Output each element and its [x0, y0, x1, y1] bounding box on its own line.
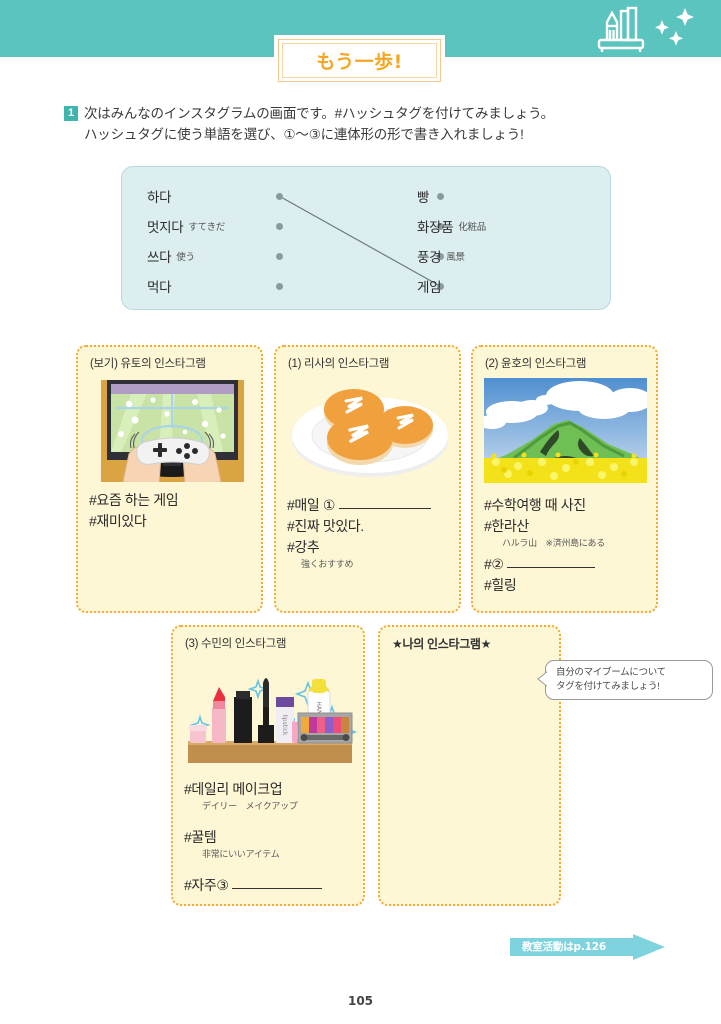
match-word-jp: 化粧品 [458, 219, 486, 233]
hint-speech-bubble: 自分のマイブームについて タグを付けてみましょう! [545, 660, 713, 700]
card-tags: #요즘 하는 게임 #재미있다 [89, 490, 178, 532]
card-image-cosmetics: lipstick HANDCREAM [182, 663, 358, 775]
bubble-line-2: タグを付けてみましょう! [556, 680, 712, 694]
card-tag-jp: ハルラ山 ※済州島にある [502, 537, 605, 550]
card-tag: #강추 [287, 537, 431, 558]
match-word-ko: 풍경 [417, 246, 441, 266]
answer-blank-1[interactable] [339, 508, 431, 509]
match-right-item[interactable]: 게임 [417, 271, 597, 301]
card-tags: #데일리 메이크업 デイリー メイクアップ #꿀템 非常にいいアイテム #자주③ [184, 779, 322, 896]
card-tags: #매일 ① #진짜 맛있다. #강추 強くおすすめ [287, 495, 431, 571]
card-tag-text: #재미있다 [89, 513, 146, 529]
card-tag-text: #힐링 [484, 577, 516, 593]
bubble-line-1: 自分のマイブームについて [556, 666, 712, 680]
textbook-page: もう一歩! 1 次はみんなのインスタグラムの画面です。#ハッシュタグを付けてみま… [0, 0, 721, 1024]
instagram-card-my[interactable]: ★나의 인스타그램★ [378, 625, 561, 906]
word-matching-box: 하다 멋지다 すてきだ 쓰다 使う 먹다 빵 [121, 166, 611, 310]
question-number-badge: 1 [64, 106, 78, 121]
match-left-item[interactable]: 쓰다 使う [147, 241, 337, 271]
card-tag: #진짜 맛있다. [287, 516, 431, 537]
match-left-item[interactable]: 먹다 [147, 271, 337, 301]
match-word-jp: すてきだ [188, 219, 225, 233]
card-tag-text: #진짜 맛있다. [287, 518, 364, 534]
card-tag-text: #수학여행 때 사진 [484, 497, 586, 513]
card-title: ★나의 인스타그램★ [392, 635, 491, 652]
match-left-column: 하다 멋지다 すてきだ 쓰다 使う 먹다 [147, 181, 337, 301]
instagram-card-3: (3) 수민의 인스타그램 [171, 625, 365, 906]
match-word-ko: 화장품 [417, 216, 453, 236]
reference-text: 教室活動はp.126 [522, 939, 606, 954]
card-tag: #② [484, 554, 605, 575]
match-dot-left-0[interactable] [276, 193, 283, 200]
instruction-line-1: 次はみんなのインスタグラムの画面です。#ハッシュタグを付けてみましょう。 [84, 103, 554, 124]
match-word-ko: 빵 [417, 186, 429, 206]
card-tag-text: #자주③ [184, 877, 229, 893]
card-image-bread [288, 377, 451, 487]
card-title: (2) 윤호의 인스타그램 [485, 355, 586, 371]
card-tag: #매일 ① [287, 495, 431, 516]
match-word-ko: 쓰다 [147, 246, 171, 266]
instagram-card-2: (2) 윤호의 인스타그램 [471, 345, 658, 613]
card-tag: #데일리 메이크업 [184, 779, 322, 800]
answer-blank-2[interactable] [507, 567, 595, 568]
card-title: (보기) 유토의 인스타그램 [90, 355, 206, 371]
match-word-jp: 風景 [446, 249, 464, 263]
match-left-item[interactable]: 하다 [147, 181, 337, 211]
match-dot-left-1[interactable] [276, 223, 283, 230]
match-dot-left-3[interactable] [276, 283, 283, 290]
card-tag-text: #한라산 [484, 518, 529, 534]
card-tag-text: #요즘 하는 게임 [89, 492, 178, 508]
match-left-item[interactable]: 멋지다 すてきだ [147, 211, 337, 241]
card-tag-jp: 強くおすすめ [301, 558, 431, 571]
match-word-ko: 먹다 [147, 276, 171, 296]
page-title: もう一歩! [316, 47, 403, 74]
card-tags: #수학여행 때 사진 #한라산 ハルラ山 ※済州島にある #② #힐링 [484, 495, 605, 596]
card-tag: #수학여행 때 사진 [484, 495, 605, 516]
card-image-mountain [484, 378, 647, 483]
card-tag: #자주③ [184, 875, 322, 896]
match-dot-left-2[interactable] [276, 253, 283, 260]
match-right-item[interactable]: 풍경 風景 [417, 241, 597, 271]
card-title: (1) 리사의 인스타그램 [288, 355, 389, 371]
instruction-block: 1 次はみんなのインスタグラムの画面です。#ハッシュタグを付けてみましょう。 ハ… [64, 103, 684, 145]
bubble-tail-icon [537, 670, 548, 688]
card-tag-text: #데일리 메이크업 [184, 781, 282, 797]
card-tag-jp: デイリー メイクアップ [202, 800, 322, 813]
section-title-box: もう一歩! [278, 39, 441, 82]
card-tag: #요즘 하는 게임 [89, 490, 178, 511]
match-right-item[interactable]: 빵 [417, 181, 597, 211]
card-tag-text: #② [484, 556, 504, 572]
card-tag: #재미있다 [89, 511, 178, 532]
svg-text:lipstick: lipstick [281, 714, 288, 736]
match-right-item[interactable]: 화장품 化粧品 [417, 211, 597, 241]
match-word-jp: 使う [176, 249, 194, 263]
instruction-line-2: ハッシュタグに使う単語を選び、①〜③に連体形の形で書き入れましょう! [84, 124, 684, 145]
card-tag: #한라산 [484, 516, 605, 537]
card-tag: #꿀템 [184, 827, 322, 848]
match-word-ko: 하다 [147, 186, 171, 206]
card-title: (3) 수민의 인스타그램 [185, 635, 286, 651]
card-tag-text: #매일 ① [287, 497, 335, 513]
match-word-ko: 게임 [417, 276, 441, 296]
answer-blank-3[interactable] [232, 888, 322, 889]
instagram-card-1: (1) 리사의 인스타그램 [274, 345, 461, 613]
card-tag: #힐링 [484, 575, 605, 596]
page-number: 105 [0, 994, 721, 1008]
card-image-game [101, 380, 244, 482]
card-tag-text: #꿀템 [184, 829, 216, 845]
card-tag-text: #강추 [287, 539, 319, 555]
instagram-card-example: (보기) 유토의 인스타그램 [76, 345, 263, 613]
match-word-ko: 멋지다 [147, 216, 183, 236]
pencil-cup-icon [589, 4, 699, 54]
card-tag-jp: 非常にいいアイテム [202, 848, 322, 861]
match-right-column: 빵 화장품 化粧品 풍경 風景 게임 [417, 181, 597, 301]
